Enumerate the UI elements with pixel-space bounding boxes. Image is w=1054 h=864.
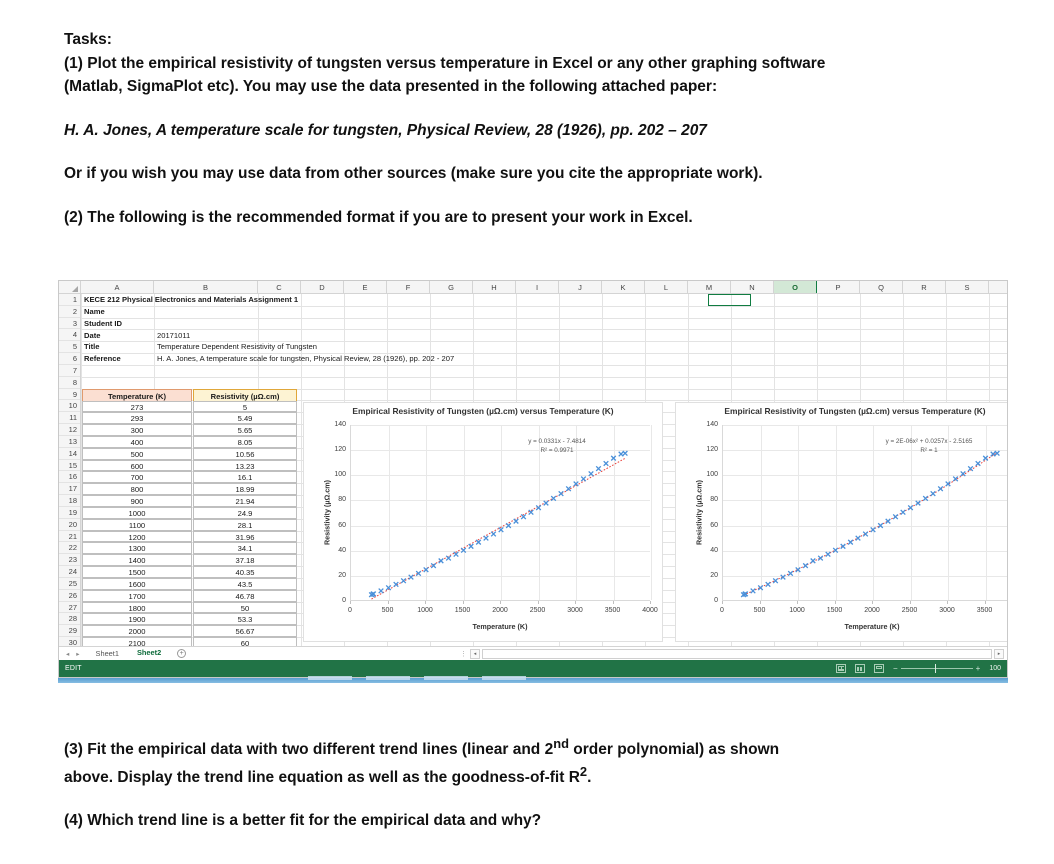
chart1-xtick: 1000 [410, 607, 440, 614]
chart1-xtickmark [500, 601, 501, 604]
horizontal-scroll-region[interactable]: ⋮ ◂ ▸ [460, 649, 1007, 659]
chart2-ytick: 20 [692, 572, 718, 579]
column-header-Q[interactable]: Q [860, 281, 903, 293]
row-header-10[interactable]: 10 [59, 400, 80, 412]
column-header-D[interactable]: D [301, 281, 344, 293]
tasks-heading: Tasks: [64, 28, 994, 52]
chart2-xtick: 3000 [932, 607, 962, 614]
chart1-trendline-annotation: y = 0.0331x - 7.4814R² = 0.9971 [470, 437, 644, 456]
column-header-G[interactable]: G [430, 281, 473, 293]
table-cell-temperature[interactable]: 1300 [82, 542, 192, 554]
row-header-11[interactable]: 11 [59, 412, 80, 424]
column-header-R[interactable]: R [903, 281, 946, 293]
row-header-7[interactable]: 7 [59, 365, 80, 377]
sheet-nav-next-icon[interactable]: ▸ [76, 650, 79, 658]
plus-icon[interactable]: + [177, 649, 186, 658]
chart1-xtick: 3000 [560, 607, 590, 614]
chart1-title: Empirical Resistivity of Tungsten (µΩ.cm… [304, 406, 662, 416]
cell-A5[interactable]: Title [84, 341, 99, 353]
row-header-29[interactable]: 29 [59, 625, 80, 637]
chart2-xtickmark [910, 601, 911, 604]
row-header-28[interactable]: 28 [59, 613, 80, 625]
taskbar-items [308, 676, 526, 680]
table-cell-temperature[interactable]: 1600 [82, 578, 192, 590]
row-header-19[interactable]: 19 [59, 507, 80, 519]
normal-view-icon[interactable] [836, 664, 846, 673]
row-header-3[interactable]: 3 [59, 318, 80, 330]
chart2-ytick: 140 [692, 421, 718, 428]
row-header-15[interactable]: 15 [59, 460, 80, 472]
task-2-paragraph: (2) The following is the recommended for… [64, 206, 994, 230]
table-cell-temperature[interactable]: 600 [82, 460, 192, 472]
row-header-24[interactable]: 24 [59, 566, 80, 578]
excel-status-bar: EDIT − + 100 [59, 660, 1007, 677]
chart1-xtickmark [463, 601, 464, 604]
table-cell-resistivity[interactable]: 53.3 [193, 613, 297, 625]
chart2-xlabel: Temperature (K) [722, 622, 1008, 631]
table-cell-temperature[interactable]: 300 [82, 424, 192, 436]
chart1-xtickmark [613, 601, 614, 604]
chart2-xtickmark [797, 601, 798, 604]
chart2-xtickmark [722, 601, 723, 604]
table-cell-temperature[interactable]: 273 [82, 401, 192, 413]
table-cell-temperature[interactable]: 1100 [82, 519, 192, 531]
zoom-slider-track[interactable] [901, 668, 973, 669]
chart1-ytick: 140 [320, 421, 346, 428]
chart2-title: Empirical Resistivity of Tungsten (µΩ.cm… [676, 406, 1008, 416]
horizontal-scrollbar[interactable] [482, 649, 992, 659]
table-cell-resistivity[interactable]: 21.94 [193, 495, 297, 507]
taskbar-item [366, 676, 410, 680]
column-header-row[interactable]: ABCDEFGHIJKLMNOPQRSTUV [59, 281, 1007, 294]
column-header-T[interactable]: T [989, 281, 1008, 293]
table-cell-temperature[interactable]: 1800 [82, 602, 192, 614]
sheet-grid-area[interactable]: KECE 212 Physical Electronics and Materi… [81, 294, 1007, 649]
column-header-I[interactable]: I [516, 281, 559, 293]
chart1-xtickmark [350, 601, 351, 604]
alt-sources-line: Or if you wish you may use data from oth… [64, 162, 994, 186]
cell-A6[interactable]: Reference [84, 353, 121, 365]
row-header-5[interactable]: 5 [59, 341, 80, 353]
row-header-9[interactable]: 9 [59, 389, 80, 401]
row-header-20[interactable]: 20 [59, 519, 80, 531]
zoom-slider[interactable]: − + [893, 665, 980, 673]
table-cell-temperature[interactable]: 1500 [82, 566, 192, 578]
column-header-S[interactable]: S [946, 281, 989, 293]
table-cell-temperature[interactable]: 2000 [82, 625, 192, 637]
chart1-xtick: 2000 [485, 607, 515, 614]
column-header-P[interactable]: P [817, 281, 860, 293]
chart2-xtick: 500 [745, 607, 775, 614]
desktop-taskbar-sliver [58, 678, 1008, 683]
cell-A4[interactable]: Date [84, 330, 100, 342]
excel-spreadsheet-window[interactable]: ABCDEFGHIJKLMNOPQRSTUV 12345678910111213… [58, 280, 1008, 678]
taskbar-item [308, 676, 352, 680]
chart1-ytick: 120 [320, 446, 346, 453]
table-cell-temperature[interactable]: 400 [82, 436, 192, 448]
chart1-r-squared: R² = 0.9971 [470, 446, 644, 455]
sheet-tab-bar[interactable]: ◂ ▸ Sheet1 Sheet2 + ⋮ ◂ ▸ [59, 646, 1007, 660]
row-header-13[interactable]: 13 [59, 436, 80, 448]
row-header-23[interactable]: 23 [59, 554, 80, 566]
taskbar-item [482, 676, 526, 680]
add-sheet-button[interactable]: + [170, 649, 193, 658]
chart1-xtick: 1500 [448, 607, 478, 614]
select-all-corner[interactable] [59, 281, 81, 293]
status-mode-label: EDIT [59, 665, 82, 672]
row-header-18[interactable]: 18 [59, 495, 80, 507]
sheet-nav-prev-icon[interactable]: ◂ [66, 650, 69, 658]
table-cell-resistivity[interactable]: 10.56 [193, 448, 297, 460]
chart1-equation: y = 0.0331x - 7.4814 [470, 437, 644, 446]
chart2-xtick: 4000 [1007, 607, 1008, 614]
table-cell-resistivity[interactable]: 40.35 [193, 566, 297, 578]
row-header-8[interactable]: 8 [59, 377, 80, 389]
table-cell-temperature[interactable]: 1700 [82, 590, 192, 602]
zoom-slider-knob[interactable] [935, 664, 937, 673]
chart2-ytick: 0 [692, 597, 718, 604]
row-header-4[interactable]: 4 [59, 329, 80, 341]
chart-linear-trendline[interactable]: Empirical Resistivity of Tungsten (µΩ.cm… [303, 402, 663, 642]
column-header-L[interactable]: L [645, 281, 688, 293]
hscroll-right-arrow-icon[interactable]: ▸ [994, 649, 1004, 659]
taskbar-item [424, 676, 468, 680]
chart1-xtick: 2500 [523, 607, 553, 614]
chart2-xtick: 3500 [970, 607, 1000, 614]
row-header-16[interactable]: 16 [59, 471, 80, 483]
split-handle-icon[interactable]: ⋮ [460, 650, 468, 658]
column-header-B[interactable]: B [154, 281, 258, 293]
column-header-E[interactable]: E [344, 281, 387, 293]
chart1-xtick: 4000 [635, 607, 665, 614]
chart2-xtickmark [872, 601, 873, 604]
chart2-r-squared: R² = 1 [842, 446, 1008, 455]
table-cell-resistivity[interactable]: 24.9 [193, 507, 297, 519]
row-header-27[interactable]: 27 [59, 602, 80, 614]
row-header-17[interactable]: 17 [59, 483, 80, 495]
table-cell-resistivity[interactable]: 37.18 [193, 554, 297, 566]
table-cell-temperature[interactable]: 800 [82, 483, 192, 495]
chart1-ytick: 0 [320, 597, 346, 604]
cell-B4[interactable]: 20171011 [157, 330, 190, 342]
table-cell-resistivity[interactable]: 46.78 [193, 590, 297, 602]
table-cell-resistivity[interactable]: 8.05 [193, 436, 297, 448]
chart1-xtickmark [650, 601, 651, 604]
table-cell-resistivity[interactable]: 34.1 [193, 542, 297, 554]
table-cell-resistivity[interactable]: 5.49 [193, 412, 297, 424]
chart2-equation: y = 2E-06x² + 0.0257x - 2.5165 [842, 437, 1008, 446]
chart1-xtick: 3500 [598, 607, 628, 614]
sheet-nav-arrows[interactable]: ◂ ▸ [59, 650, 87, 658]
table-cell-temperature[interactable]: 1400 [82, 554, 192, 566]
cell-A2[interactable]: Name [84, 306, 105, 318]
sheet-tab-sheet1[interactable]: Sheet1 [87, 647, 128, 661]
task-1-line-2: (Matlab, SigmaPlot etc). You may use the… [64, 75, 994, 99]
table-cell-resistivity[interactable]: 13.23 [193, 460, 297, 472]
chart2-xtick: 1000 [782, 607, 812, 614]
cell-B5[interactable]: Temperature Dependent Resistivity of Tun… [157, 341, 317, 353]
chart1-xlabel: Temperature (K) [350, 622, 650, 631]
table-cell-temperature[interactable]: 1000 [82, 507, 192, 519]
chart1-ytick: 20 [320, 572, 346, 579]
task-4-paragraph: (4) Which trend line is a better fit for… [64, 809, 994, 833]
gridline-vertical [651, 425, 652, 600]
active-cell-selection[interactable] [708, 294, 751, 306]
zoom-level-label[interactable]: 100 [989, 665, 1001, 672]
chart2-trendline-annotation: y = 2E-06x² + 0.0257x - 2.5165R² = 1 [842, 437, 1008, 456]
chart1-xtick: 500 [373, 607, 403, 614]
cell-B6[interactable]: H. A. Jones, A temperature scale for tun… [157, 353, 454, 365]
chart-polynomial-trendline[interactable]: Empirical Resistivity of Tungsten (µΩ.cm… [675, 402, 1008, 642]
column-header-C[interactable]: C [258, 281, 301, 293]
zoom-in-icon[interactable]: + [976, 665, 981, 673]
table-cell-resistivity[interactable]: 31.96 [193, 531, 297, 543]
task-3-line-2: above. Display the trend line equation a… [64, 762, 994, 790]
chart2-xtickmark [985, 601, 986, 604]
row-header-2[interactable]: 2 [59, 306, 80, 318]
row-header-25[interactable]: 25 [59, 578, 80, 590]
table-cell-resistivity[interactable]: 43.5 [193, 578, 297, 590]
chart1-xtick: 0 [335, 607, 365, 614]
row-header-22[interactable]: 22 [59, 542, 80, 554]
row-header-column[interactable]: 1234567891011121314151617181920212223242… [59, 294, 81, 649]
row-header-26[interactable]: 26 [59, 590, 80, 602]
table-cell-temperature[interactable]: 500 [82, 448, 192, 460]
table-cell-temperature[interactable]: 700 [82, 471, 192, 483]
chart2-ylabel: Resistivity (µΩ.cm) [695, 463, 704, 563]
page-break-view-icon[interactable] [874, 664, 884, 673]
page-layout-view-icon[interactable] [855, 664, 865, 673]
task-3-paragraph: (3) Fit the empirical data with two diff… [64, 734, 994, 762]
table-cell-temperature[interactable]: 900 [82, 495, 192, 507]
chart1-xtickmark [538, 601, 539, 604]
chart2-xtickmark [835, 601, 836, 604]
assignment-document: Tasks: (1) Plot the empirical resistivit… [64, 28, 994, 229]
table-cell-resistivity[interactable]: 18.99 [193, 483, 297, 495]
table-cell-resistivity[interactable]: 56.67 [193, 625, 297, 637]
row-header-12[interactable]: 12 [59, 424, 80, 436]
column-header-O[interactable]: O [774, 281, 817, 293]
zoom-out-icon[interactable]: − [893, 665, 898, 673]
column-header-F[interactable]: F [387, 281, 430, 293]
column-header-N[interactable]: N [731, 281, 774, 293]
table-cell-resistivity[interactable]: 50 [193, 602, 297, 614]
table-cell-temperature[interactable]: 1200 [82, 531, 192, 543]
row-header-1[interactable]: 1 [59, 294, 80, 306]
column-header-A[interactable]: A [81, 281, 154, 293]
hscroll-left-arrow-icon[interactable]: ◂ [470, 649, 480, 659]
row-header-21[interactable]: 21 [59, 531, 80, 543]
table-cell-resistivity[interactable]: 28.1 [193, 519, 297, 531]
chart2-xtick: 1500 [820, 607, 850, 614]
chart2-xtick: 2500 [895, 607, 925, 614]
column-header-H[interactable]: H [473, 281, 516, 293]
cell-A1[interactable]: KECE 212 Physical Electronics and Materi… [84, 294, 298, 306]
table-cell-resistivity[interactable]: 5.65 [193, 424, 297, 436]
table-cell-resistivity[interactable]: 5 [193, 401, 297, 413]
row-header-6[interactable]: 6 [59, 353, 80, 365]
chart1-ylabel: Resistivity (µΩ.cm) [323, 463, 332, 563]
assignment-document-bottom: (3) Fit the empirical data with two diff… [64, 734, 994, 833]
column-header-K[interactable]: K [602, 281, 645, 293]
chart2-ytick: 120 [692, 446, 718, 453]
chart1-xtickmark [575, 601, 576, 604]
task-1-paragraph: (1) Plot the empirical resistivity of tu… [64, 52, 994, 76]
chart1-xtickmark [388, 601, 389, 604]
chart1-xtickmark [425, 601, 426, 604]
chart2-xtick: 0 [707, 607, 737, 614]
cell-A3[interactable]: Student ID [84, 318, 122, 330]
table-cell-resistivity[interactable]: 16.1 [193, 471, 297, 483]
row-header-14[interactable]: 14 [59, 448, 80, 460]
chart2-xtickmark [760, 601, 761, 604]
chart2-xtickmark [947, 601, 948, 604]
table-cell-temperature[interactable]: 293 [82, 412, 192, 424]
citation-line: H. A. Jones, A temperature scale for tun… [64, 119, 994, 143]
table-cell-temperature[interactable]: 1900 [82, 613, 192, 625]
column-header-J[interactable]: J [559, 281, 602, 293]
column-header-M[interactable]: M [688, 281, 731, 293]
chart2-xtick: 2000 [857, 607, 887, 614]
